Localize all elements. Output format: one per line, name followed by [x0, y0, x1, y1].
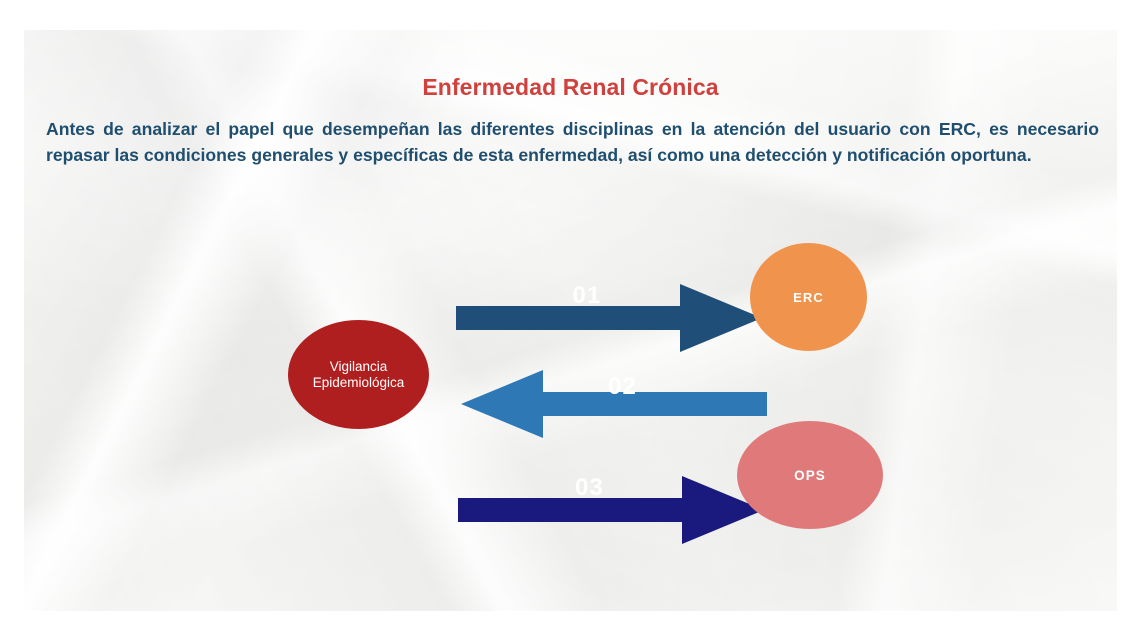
node-erc[interactable]: ERC: [750, 243, 867, 351]
node-ops[interactable]: OPS: [737, 421, 883, 529]
node-ops-label: OPS: [794, 468, 826, 483]
node-vigilancia-label-line2: Epidemiológica: [313, 375, 405, 390]
slide-canvas: Enfermedad Renal Crónica Antes de analiz…: [24, 30, 1117, 611]
arrow-02-label: 02: [435, 339, 750, 435]
node-vigilancia-epidemiologica[interactable]: Vigilancia Epidemiológica: [288, 320, 429, 429]
arrow-03-label: 03: [432, 444, 747, 532]
process-diagram: 01 02 03 Vigilancia Epidemiológica ERC: [24, 30, 1117, 611]
node-vigilancia-label: Vigilancia Epidemiológica: [313, 359, 405, 391]
node-vigilancia-label-line1: Vigilancia: [330, 359, 388, 374]
arrow-01-label: 01: [430, 252, 744, 340]
node-erc-label: ERC: [793, 290, 824, 305]
